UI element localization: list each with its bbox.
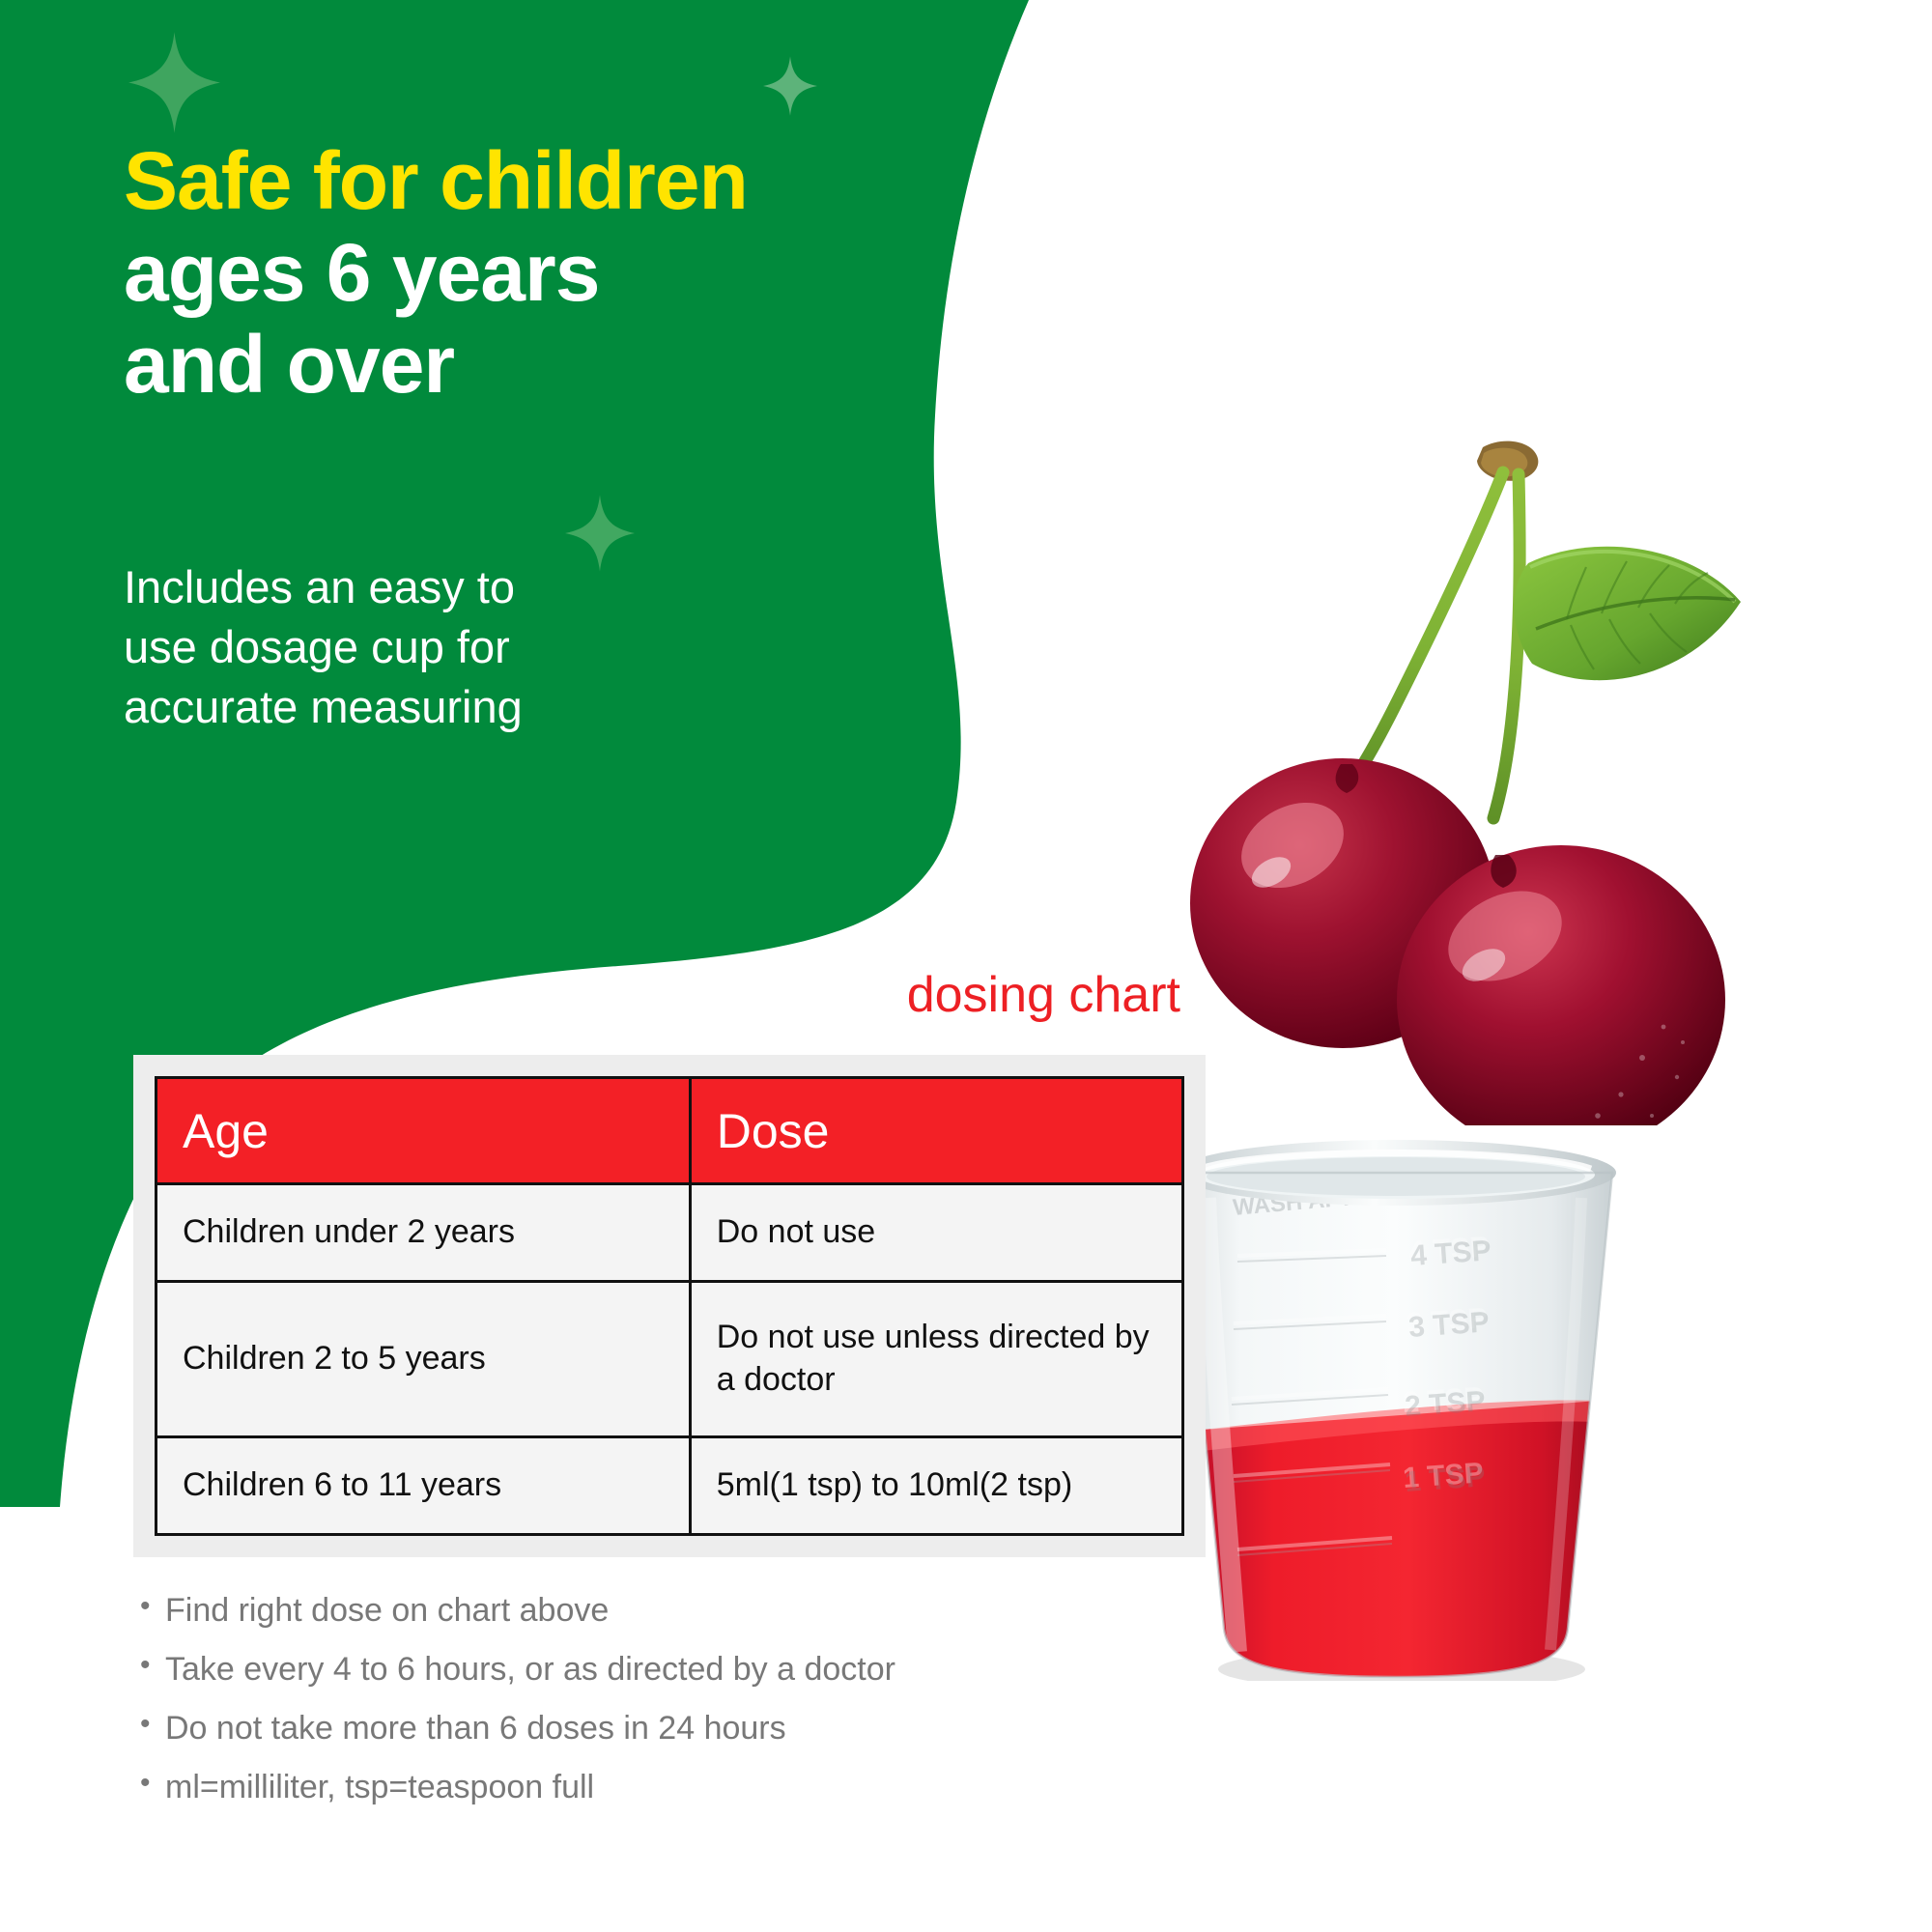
dosage-cup-image: 4 TSP 3 TSP 2 TSP 1 TSP 4 TSP 3 TSP 2 TS… [1145,1140,1647,1681]
dosing-chart-caption: dosing chart [0,966,1180,1024]
list-item: Do not take more than 6 doses in 24 hour… [138,1712,895,1745]
table-header-row: Age Dose [156,1078,1183,1184]
list-item: Find right dose on chart above [138,1594,895,1627]
page-title: Safe for children ages 6 years and over [124,135,916,411]
list-item: ml=milliliter, tsp=teaspoon full [138,1771,895,1804]
cell-dose: Do not use [690,1184,1182,1282]
svg-text:3 TSP: 3 TSP [1407,1306,1490,1344]
subheading-line-3: accurate measuring [124,677,723,737]
dosing-chart-table-frame: Age Dose Children under 2 years Do not u… [133,1055,1206,1557]
svg-text:2 TSP: 2 TSP [1404,1385,1486,1423]
headline-line-2: ages 6 years [124,227,916,319]
cell-dose: Do not use unless directed by a doctor [690,1282,1182,1436]
dosing-chart-table: Age Dose Children under 2 years Do not u… [155,1076,1184,1536]
table-row: Children under 2 years Do not use [156,1184,1183,1282]
cell-age: Children 2 to 5 years [156,1282,691,1436]
headline-line-3: and over [124,319,916,411]
column-header-dose: Dose [690,1078,1182,1184]
subheading: Includes an easy to use dosage cup for a… [124,557,723,737]
sparkle-large-top-left-icon [128,32,220,133]
svg-text:4 TSP: 4 TSP [1409,1235,1492,1272]
table-row: Children 2 to 5 years Do not use unless … [156,1282,1183,1436]
subheading-line-1: Includes an easy to [124,557,723,617]
list-item: Take every 4 to 6 hours, or as directed … [138,1653,895,1686]
cell-age: Children under 2 years [156,1184,691,1282]
cherries-image [1188,440,1806,1125]
usage-notes-list: Find right dose on chart above Take ever… [138,1594,895,1830]
column-header-age: Age [156,1078,691,1184]
svg-text:1 TSP: 1 TSP [1404,1461,1486,1498]
table-row: Children 6 to 11 years 5ml(1 tsp) to 10m… [156,1436,1183,1534]
subheading-line-2: use dosage cup for [124,617,723,677]
cell-age: Children 6 to 11 years [156,1436,691,1534]
headline-line-1: Safe for children [124,135,916,227]
cell-dose: 5ml(1 tsp) to 10ml(2 tsp) [690,1436,1182,1534]
sparkle-small-top-right-icon [763,56,817,116]
